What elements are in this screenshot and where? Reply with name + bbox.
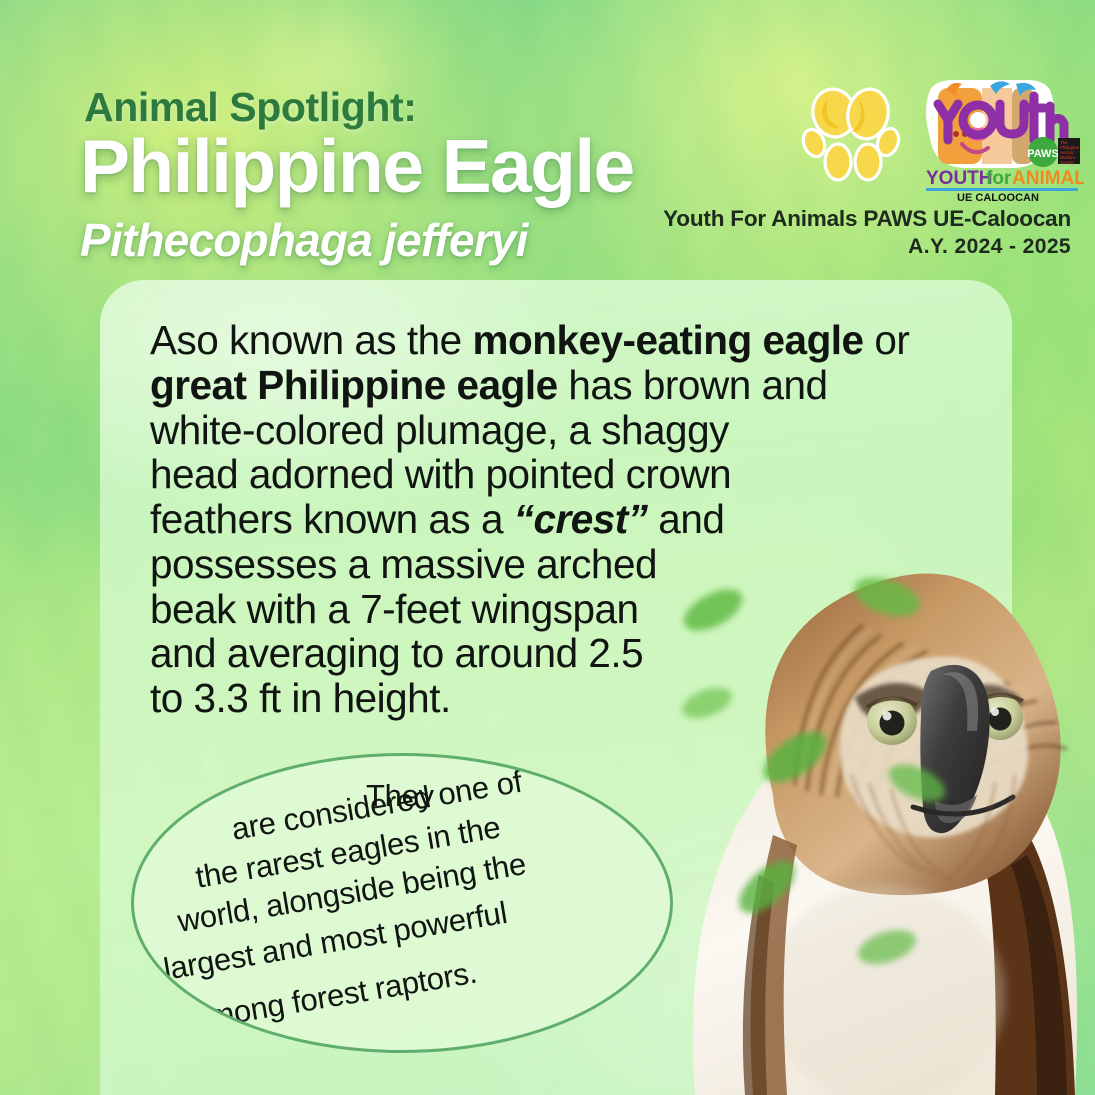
yfa-paw-logo	[800, 80, 905, 185]
wordmark-for: for	[986, 168, 1012, 189]
body-line-3: head adorned with pointed crown	[150, 451, 731, 497]
svg-text:Society: Society	[1060, 160, 1075, 165]
body-line-5: possesses a massive arched	[150, 541, 657, 587]
page-title: Philippine Eagle	[80, 128, 634, 205]
scientific-name: Pithecophaga jefferyi	[80, 213, 528, 267]
body-line-8: to 3.3 ft in height.	[150, 675, 451, 721]
organization-name: Youth For Animals PAWS UE-Caloocan	[663, 206, 1071, 232]
body-paragraph: Aso known as the monkey-eating eagle or …	[150, 318, 960, 721]
wordmark-animals: ANIMALS	[1012, 168, 1084, 189]
wordmark-chapter: UE CALOOCAN	[957, 192, 1039, 203]
poster-header: Animal Spotlight: Philippine Eagle Pithe…	[0, 0, 1095, 280]
callout-text: They are considered one of the rarest ea…	[134, 756, 670, 1050]
body-line-2: white-colored plumage, a shaggy	[150, 407, 729, 453]
body-line-1: great Philippine eagle has brown and	[150, 362, 828, 408]
body-line-4: feathers known as a “crest” and	[150, 496, 724, 542]
svg-text:PAWS: PAWS	[1027, 148, 1059, 160]
youth-for-animals-logo: PAWS The Philippine Animal Welfare Socie…	[912, 78, 1084, 203]
body-line-6: beak with a 7-feet wingspan	[150, 586, 639, 632]
callout-oval: They are considered one of the rarest ea…	[131, 753, 673, 1053]
body-line-0: Aso known as the monkey-eating eagle or	[150, 317, 909, 363]
academic-year: A.Y. 2024 - 2025	[908, 235, 1071, 259]
poster-canvas: Animal Spotlight: Philippine Eagle Pithe…	[0, 0, 1095, 1095]
wordmark-youth: YOUTH	[926, 168, 993, 189]
body-line-7: and averaging to around 2.5	[150, 630, 643, 676]
